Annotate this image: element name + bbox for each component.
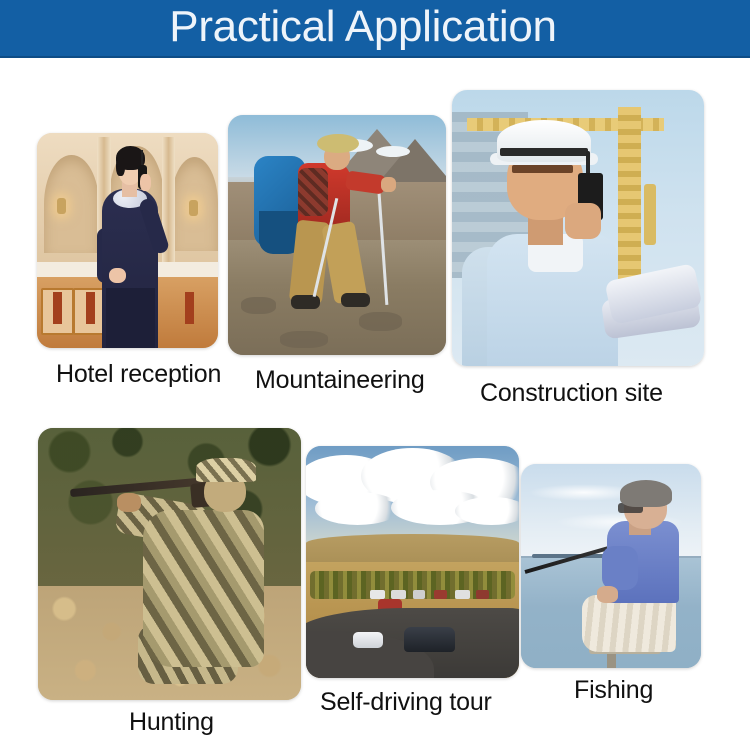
application-card-mountaineering[interactable] [228,115,446,355]
caption-mountaineering: Mountaineering [255,366,425,395]
crane-hook [644,184,657,245]
page-title: Practical Application [0,0,726,56]
counter-stripe [53,292,62,324]
counter-stripe [86,292,95,324]
hunter-camo-cap [196,458,256,482]
crane-mast [618,107,641,300]
application-card-fishing[interactable] [521,464,701,668]
self-driving-tour-photo [306,446,519,678]
hunting-photo [38,428,301,700]
hiker-hand [381,177,396,191]
parked-car [455,590,470,599]
parked-car [476,590,489,599]
parked-car [434,590,447,599]
caption-self-driving-tour: Self-driving tour [320,688,492,717]
lobby-arch [44,155,98,254]
rock [280,331,328,348]
caption-construction-site: Construction site [480,379,663,408]
worker-hand [565,203,600,239]
caption-hunting: Hunting [129,708,214,737]
receptionist-hair [116,157,125,176]
wall-sconce-icon [189,200,198,216]
hiking-boot [291,295,319,309]
angler-hair [620,480,672,507]
cloud [315,492,400,524]
hotel-reception-photo [37,133,218,348]
receptionist-right-hand [140,174,151,191]
receptionist-skirt [106,288,155,348]
parked-car [391,590,406,599]
caption-hotel-reception: Hotel reception [56,360,221,389]
cloud [455,497,519,525]
wall-sconce-icon [57,198,66,214]
rock [359,312,403,331]
hiker-plaid-sleeve [298,168,329,216]
receptionist-left-hand [109,268,125,283]
hiking-boot [341,293,369,307]
angler-hand [597,586,619,602]
parked-car [413,590,426,599]
counter-stripe [185,292,194,324]
angler-sleeve [602,546,638,591]
practical-application-page: Practical Application [0,0,750,750]
construction-site-photo [452,90,704,366]
white-car [353,632,383,648]
fishing-photo [521,464,701,668]
angler-trousers [582,595,676,652]
worker-brow [512,165,572,173]
caption-fishing: Fishing [574,676,653,705]
application-card-hunting[interactable] [38,428,301,700]
application-card-self-driving-tour[interactable] [306,446,519,678]
application-card-hotel-reception[interactable] [37,133,218,348]
hardhat-band [500,148,588,156]
hunter-hand [117,493,141,512]
mountaineering-photo [228,115,446,355]
application-card-construction-site[interactable] [452,90,704,366]
rock [241,297,276,314]
hunter-camo-jacket [143,510,264,668]
header-banner: Practical Application [0,0,750,58]
parked-car [370,590,385,599]
dark-suv [404,627,455,653]
